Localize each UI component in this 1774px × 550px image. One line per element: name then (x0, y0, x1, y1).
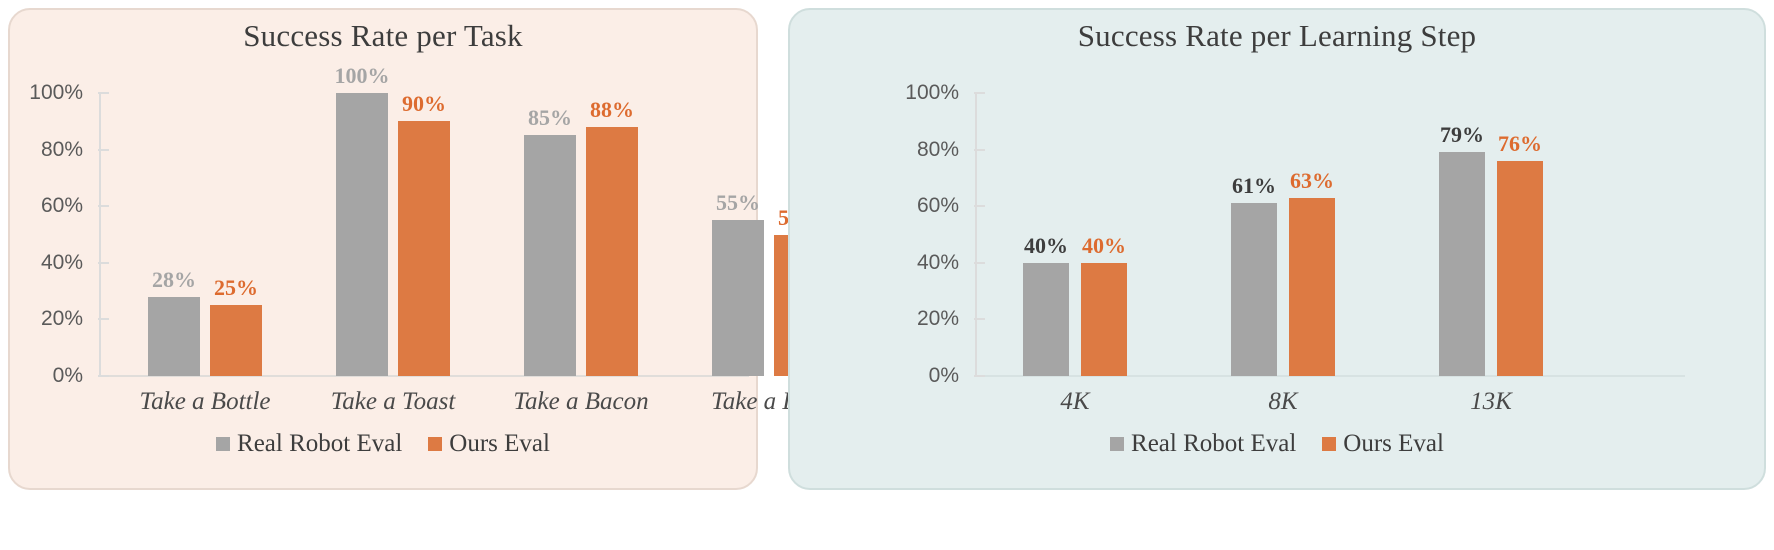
bar-value-label: 85% (528, 105, 572, 131)
y-axis-line (975, 93, 977, 376)
y-axis-tick-label: 20% (41, 307, 83, 331)
y-axis-tick-label: 0% (53, 364, 83, 388)
bar-group (1231, 93, 1335, 376)
chart-panel-success-rate-per-task: Success Rate per Task 0%20%40%60%80%100%… (8, 8, 758, 490)
x-axis-category-label: 8K (1268, 388, 1297, 416)
legend-swatch-icon (428, 437, 442, 451)
y-axis-tick-label: 20% (917, 307, 959, 331)
y-axis-line (99, 93, 101, 376)
y-axis-tick (974, 262, 985, 264)
x-axis-category-label: Take a Toast (331, 388, 456, 416)
bar-value-label: 25% (214, 275, 258, 301)
bar-value-label: 88% (590, 97, 634, 123)
y-axis-tick-label: 0% (929, 364, 959, 388)
chart-legend-right: Real Robot EvalOurs Eval (790, 430, 1764, 458)
chart-title-right: Success Rate per Learning Step (790, 18, 1764, 54)
bar-ours-eval[interactable] (398, 121, 450, 376)
bar-ours-eval[interactable] (1081, 263, 1127, 376)
x-axis-category-label: 13K (1470, 388, 1512, 416)
y-axis-tick (98, 318, 109, 320)
figure-root: Success Rate per Task 0%20%40%60%80%100%… (0, 0, 1774, 550)
chart-legend-left: Real Robot EvalOurs Eval (10, 430, 756, 458)
y-axis-tick (974, 149, 985, 151)
y-axis-tick (98, 375, 109, 377)
bar-value-label: 90% (402, 91, 446, 117)
bar-value-label: 40% (1082, 233, 1126, 259)
y-axis-tick (98, 149, 109, 151)
bar-group (148, 93, 262, 376)
bar-value-label: 40% (1024, 233, 1068, 259)
y-axis-tick-label: 80% (41, 138, 83, 162)
legend-swatch-icon (1110, 437, 1124, 451)
y-axis-tick-label: 60% (41, 194, 83, 218)
bar-value-label: 61% (1232, 173, 1276, 199)
bar-value-label: 76% (1498, 131, 1542, 157)
y-axis-tick-label: 40% (41, 251, 83, 275)
y-axis-tick (974, 205, 985, 207)
bar-ours-eval[interactable] (586, 127, 638, 376)
bar-real-robot-eval[interactable] (148, 297, 200, 376)
legend-item-ours-eval[interactable]: Ours Eval (1322, 430, 1444, 458)
bar-value-label: 63% (1290, 168, 1334, 194)
bar-ours-eval[interactable] (1497, 161, 1543, 376)
bar-value-label: 100% (335, 63, 390, 89)
legend-item-real-robot-eval[interactable]: Real Robot Eval (216, 430, 402, 458)
legend-label: Ours Eval (1343, 430, 1444, 458)
legend-swatch-icon (1322, 437, 1336, 451)
y-axis-tick (974, 318, 985, 320)
x-axis-category-label: Take a Bottle (139, 388, 270, 416)
bar-ours-eval[interactable] (1289, 198, 1335, 376)
plot-area-right: 0%20%40%60%80%100%40%40%4K61%63%8K79%76%… (975, 93, 1685, 376)
bar-real-robot-eval[interactable] (1023, 263, 1069, 376)
legend-item-ours-eval[interactable]: Ours Eval (428, 430, 550, 458)
y-axis-tick (974, 375, 985, 377)
y-axis-tick (98, 262, 109, 264)
y-axis-tick (98, 92, 109, 94)
legend-label: Real Robot Eval (1131, 430, 1296, 458)
chart-title-left: Success Rate per Task (10, 18, 756, 54)
y-axis-tick (974, 92, 985, 94)
y-axis-tick-label: 100% (29, 81, 83, 105)
bar-real-robot-eval[interactable] (1439, 152, 1485, 376)
x-axis-category-label: Take a Bacon (513, 388, 648, 416)
bar-real-robot-eval[interactable] (1231, 203, 1277, 376)
legend-swatch-icon (216, 437, 230, 451)
bar-value-label: 55% (716, 190, 760, 216)
legend-label: Real Robot Eval (237, 430, 402, 458)
y-axis-tick (98, 205, 109, 207)
bar-value-label: 28% (152, 267, 196, 293)
bar-real-robot-eval[interactable] (336, 93, 388, 376)
y-axis-tick-label: 100% (905, 81, 959, 105)
y-axis-tick-label: 60% (917, 194, 959, 218)
y-axis-tick-label: 80% (917, 138, 959, 162)
bar-ours-eval[interactable] (210, 305, 262, 376)
bar-real-robot-eval[interactable] (524, 135, 576, 376)
x-axis-category-label: 4K (1060, 388, 1089, 416)
bar-real-robot-eval[interactable] (712, 220, 764, 376)
bar-group (524, 93, 638, 376)
chart-panel-success-rate-per-learning-step: Success Rate per Learning Step 0%20%40%6… (788, 8, 1766, 490)
legend-item-real-robot-eval[interactable]: Real Robot Eval (1110, 430, 1296, 458)
bar-value-label: 79% (1440, 122, 1484, 148)
legend-label: Ours Eval (449, 430, 550, 458)
y-axis-tick-label: 40% (917, 251, 959, 275)
bar-group (336, 93, 450, 376)
plot-area-left: 0%20%40%60%80%100%28%25%Take a Bottle100… (99, 93, 749, 376)
